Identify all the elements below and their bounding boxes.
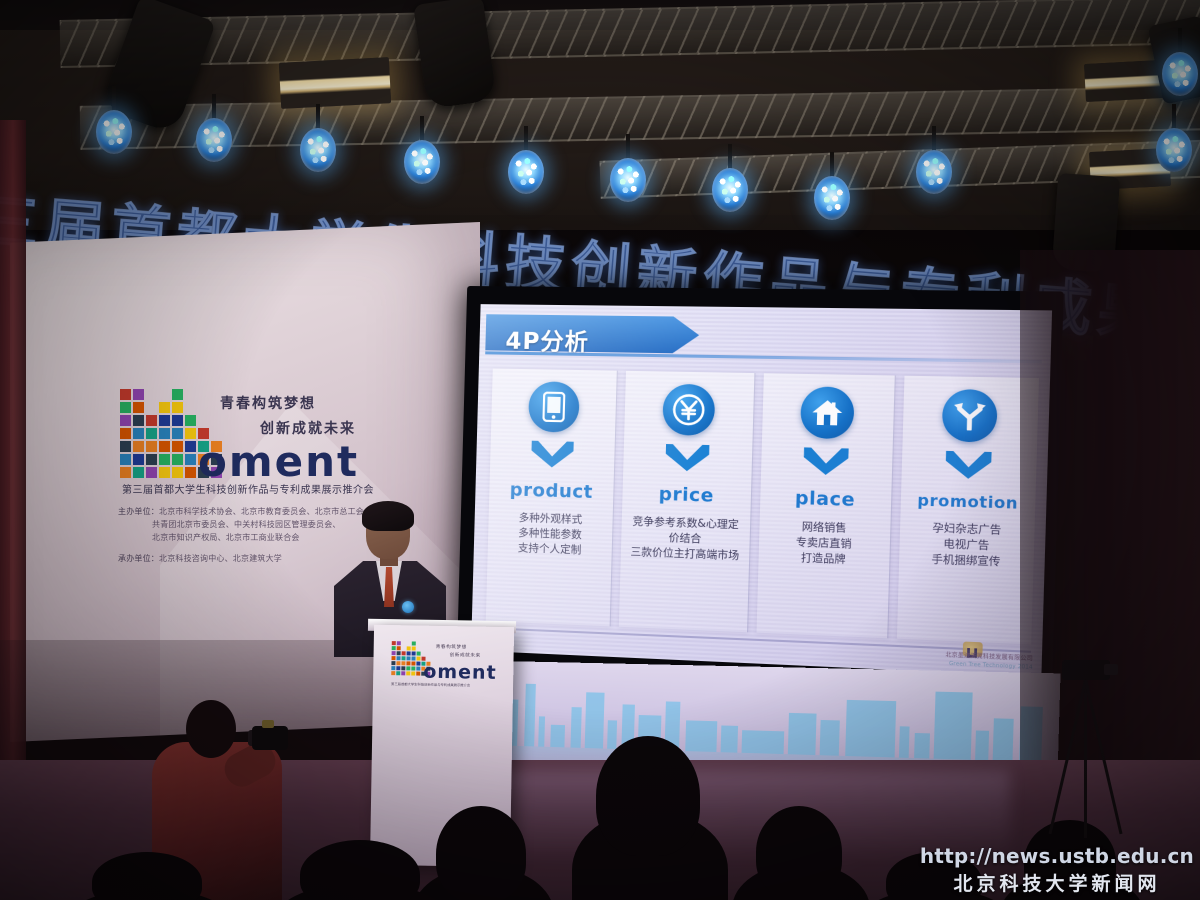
par-light-yoke [626, 134, 630, 160]
logo-pixel [392, 646, 396, 650]
logo-pixel [185, 441, 196, 452]
tripod-leg [1084, 680, 1087, 838]
host-label: 主办单位： [118, 507, 159, 516]
skyline-building [570, 707, 581, 748]
slide-columns: product多种外观样式多种性能参数支持个人定制price竞争参考系数&心理定… [486, 368, 1039, 644]
column-description: 竞争参考系数&心理定价结合三款价位主打高端市场 [625, 514, 745, 564]
column-word: promotion [917, 491, 1018, 513]
logo-tagline-2: 创新成就未来 [260, 418, 356, 438]
audience-head [756, 806, 842, 898]
logo-pixel [406, 656, 410, 660]
organizer-label: 承办单位： [118, 554, 159, 563]
slide-column-price: price竞争参考系数&心理定价结合三款价位主打高端市场 [619, 371, 755, 632]
logo-pixel [185, 454, 196, 465]
logo-pixel [401, 671, 405, 675]
stage-photo-scene: 三届首都大学生科技创新作品与专利成果展示推介会 青春构筑梦想 创新成就未来 om… [0, 0, 1200, 900]
logo-pixel [172, 415, 183, 426]
skyline-building [607, 720, 617, 749]
logo-pixel [133, 389, 144, 400]
smartphone-icon [528, 381, 580, 433]
logo-pixel [401, 656, 405, 660]
logo-pixel [397, 651, 401, 655]
slide-column-promotion: promotion孕妇杂志广告电视广告手机捆绑宣传 [897, 376, 1039, 645]
led-par-light [610, 158, 646, 202]
logo-tagline-1: 青春构筑梦想 [220, 393, 316, 413]
logo-pixel [392, 651, 396, 655]
logo-pixel [146, 454, 157, 465]
logo-pixel [416, 657, 420, 661]
yen-coin-icon [662, 384, 715, 436]
speaker-badge [402, 601, 414, 613]
column-description: 网络销售专卖店直销打造品牌 [790, 519, 858, 568]
logo-pixel [397, 641, 401, 645]
logo-pixel [411, 656, 415, 660]
column-desc-line: 手机捆绑宣传 [931, 552, 1000, 570]
logo-pixel [406, 671, 410, 675]
skyline-building [934, 692, 973, 760]
logo-pixel [412, 651, 416, 655]
watermark-url: http://news.ustb.edu.cn [920, 844, 1194, 868]
video-camera-lens-icon [1104, 664, 1118, 675]
logo-pixel [411, 661, 415, 665]
par-light-yoke [420, 116, 424, 142]
logo-pixel [396, 656, 400, 660]
skyline-building [524, 684, 536, 747]
logo-pixel [133, 441, 144, 452]
logo-pixel [412, 646, 416, 650]
podium-logo: 青春构筑梦想 创新成就未来 oment 第三届首都大学生科技创新作品与专利成果展… [391, 641, 496, 689]
led-par-light [300, 128, 336, 172]
speaker-hair [362, 501, 414, 531]
logo-pixel [146, 428, 157, 439]
par-light-yoke [932, 126, 936, 152]
moving-head-light [413, 0, 497, 109]
skyline-building [721, 725, 738, 752]
column-description: 孕妇杂志广告电视广告手机捆绑宣传 [926, 521, 1007, 571]
par-light-yoke [212, 94, 216, 120]
logo-pixel [159, 428, 170, 439]
chevron-down-icon [945, 451, 992, 480]
logo-pixel [401, 661, 405, 665]
column-desc-line: 三款价位主打高端市场 [630, 545, 739, 564]
par-light-yoke [1178, 28, 1182, 54]
par-light-yoke [1172, 104, 1176, 130]
logo-pixel [392, 641, 396, 645]
logo-pixel [133, 467, 144, 478]
chevron-down-icon [803, 447, 848, 475]
led-par-light [814, 176, 850, 220]
logo-pixel [120, 454, 131, 465]
photographer-head [186, 700, 236, 758]
logo-pixel [146, 467, 157, 478]
par-light-yoke [112, 86, 116, 112]
logo-pixel [133, 402, 144, 413]
podium-logo-subtitle: 第三届首都大学生科技创新作品与专利成果展示推介会 [391, 681, 470, 687]
logo-pixel [391, 656, 395, 660]
camera-flash-icon [262, 720, 274, 728]
logo-pixel [407, 651, 411, 655]
led-par-light [1156, 128, 1192, 172]
logo-pixel [120, 441, 131, 452]
logo-pixel [396, 666, 400, 670]
skyline-building [914, 733, 930, 759]
audience-head [436, 806, 526, 900]
logo-pixel [159, 402, 170, 413]
camera-body-icon [252, 726, 288, 750]
logo-subtitle: 第三届首都大学生科技创新作品与专利成果展示推介会 [122, 481, 374, 496]
skyline-building [585, 692, 605, 748]
logo-pixel [396, 671, 400, 675]
logo-pixel [406, 661, 410, 665]
skyline-building [788, 713, 817, 755]
organizer-line-1: 北京科技咨询中心、北京建筑大学 [159, 554, 282, 563]
logo-pixel [185, 467, 196, 478]
column-word: product [509, 479, 593, 503]
skyline-building [741, 730, 784, 754]
column-desc-line: 打造品牌 [795, 551, 851, 569]
logo-pixel [172, 467, 183, 478]
logo-pixel [402, 651, 406, 655]
logo-pixel [185, 415, 196, 426]
led-par-light [508, 150, 544, 194]
logo-pixel [407, 646, 411, 650]
led-par-light [916, 150, 952, 194]
column-desc-line: 孕妇杂志广告 [932, 521, 1001, 539]
video-camera-tripod [1052, 660, 1122, 840]
tripod-leg [1048, 680, 1086, 835]
column-description: 多种外观样式多种性能参数支持个人定制 [513, 511, 588, 559]
logo-pixel [411, 671, 415, 675]
logo-pixel [416, 662, 420, 666]
skyline-building [993, 718, 1014, 761]
par-light-yoke [728, 144, 732, 170]
led-par-light [96, 110, 132, 154]
logo-pixel [133, 454, 144, 465]
watermark-site-name: 北京科技大学新闻网 [920, 869, 1194, 896]
logo-pixel [172, 454, 183, 465]
house-icon [800, 386, 855, 439]
presentation-slide: 4P分析 product多种外观样式多种性能参数支持个人定制price竞争参考系… [471, 304, 1052, 676]
logo-pixel [412, 641, 416, 645]
arrows-spread-icon [942, 389, 998, 443]
column-desc-line: 支持个人定制 [518, 541, 582, 558]
skyline-building [899, 726, 910, 758]
logo-pixel [120, 415, 131, 426]
column-word: price [658, 484, 714, 507]
logo-pixel [172, 402, 183, 413]
column-word: place [795, 488, 856, 512]
led-par-light [196, 118, 232, 162]
logo-pixel [411, 666, 415, 670]
logo-pixel [391, 671, 395, 675]
logo-pixel [159, 441, 170, 452]
projection-screen: 4P分析 product多种外观样式多种性能参数支持个人定制price竞争参考系… [457, 286, 1064, 692]
logo-pixel [185, 428, 196, 439]
logo-wordmark: oment [198, 437, 359, 486]
audience-head [596, 736, 700, 856]
skyline-building [685, 720, 717, 752]
logo-pixel [406, 666, 410, 670]
skyline-building [845, 700, 896, 758]
par-light-yoke [524, 126, 528, 152]
logo-pixel [416, 672, 420, 676]
chevron-down-icon [531, 441, 574, 468]
watermark: http://news.ustb.edu.cn 北京科技大学新闻网 [920, 844, 1194, 896]
par-light-yoke [830, 152, 834, 178]
flood-light [279, 57, 391, 109]
logo-pixel [120, 402, 131, 413]
slide-column-product: product多种外观样式多种性能参数支持个人定制 [486, 368, 618, 626]
logo-pixel [146, 415, 157, 426]
video-camera-body-icon [1062, 660, 1110, 680]
flood-light [1084, 60, 1164, 102]
chevron-down-icon [665, 444, 709, 472]
skyline-building [975, 730, 989, 760]
led-par-light [712, 168, 748, 212]
logo-pixel [146, 441, 157, 452]
par-light-yoke [316, 104, 320, 130]
slide-column-place: place网络销售专卖店直销打造品牌 [756, 373, 896, 638]
podium-logo-tagline-2: 创新成就未来 [450, 652, 481, 659]
logo-pixel [396, 661, 400, 665]
led-par-light [404, 140, 440, 184]
skyline-building [550, 725, 565, 748]
logo-pixel [416, 667, 420, 671]
tripod-leg [1084, 680, 1122, 835]
logo-pixel [172, 441, 183, 452]
slide-title-underline [485, 351, 1042, 363]
logo-pixel [120, 428, 131, 439]
logo-pixel [401, 666, 405, 670]
podium-logo-wordmark: oment [423, 661, 497, 684]
logo-pixel [120, 389, 131, 400]
logo-pixel [120, 467, 131, 478]
skyline-building [820, 720, 840, 756]
logo-pixel [391, 661, 395, 665]
logo-pixel [172, 428, 183, 439]
led-par-light [1162, 52, 1198, 96]
logo-pixel [397, 646, 401, 650]
column-desc-line: 网络销售 [796, 520, 852, 537]
logo-pixel [159, 454, 170, 465]
logo-pixel [391, 666, 395, 670]
logo-pixel [417, 652, 421, 656]
logo-pixel [133, 428, 144, 439]
logo-pixel [172, 389, 183, 400]
podium-logo-tagline-1: 青春构筑梦想 [436, 644, 467, 651]
logo-pixel [159, 415, 170, 426]
event-logo: 青春构筑梦想 创新成就未来 oment 第三届首都大学生科技创新作品与专利成果展… [120, 385, 382, 497]
logo-pixel [159, 467, 170, 478]
logo-pixel [133, 415, 144, 426]
skyline-building [538, 716, 545, 746]
